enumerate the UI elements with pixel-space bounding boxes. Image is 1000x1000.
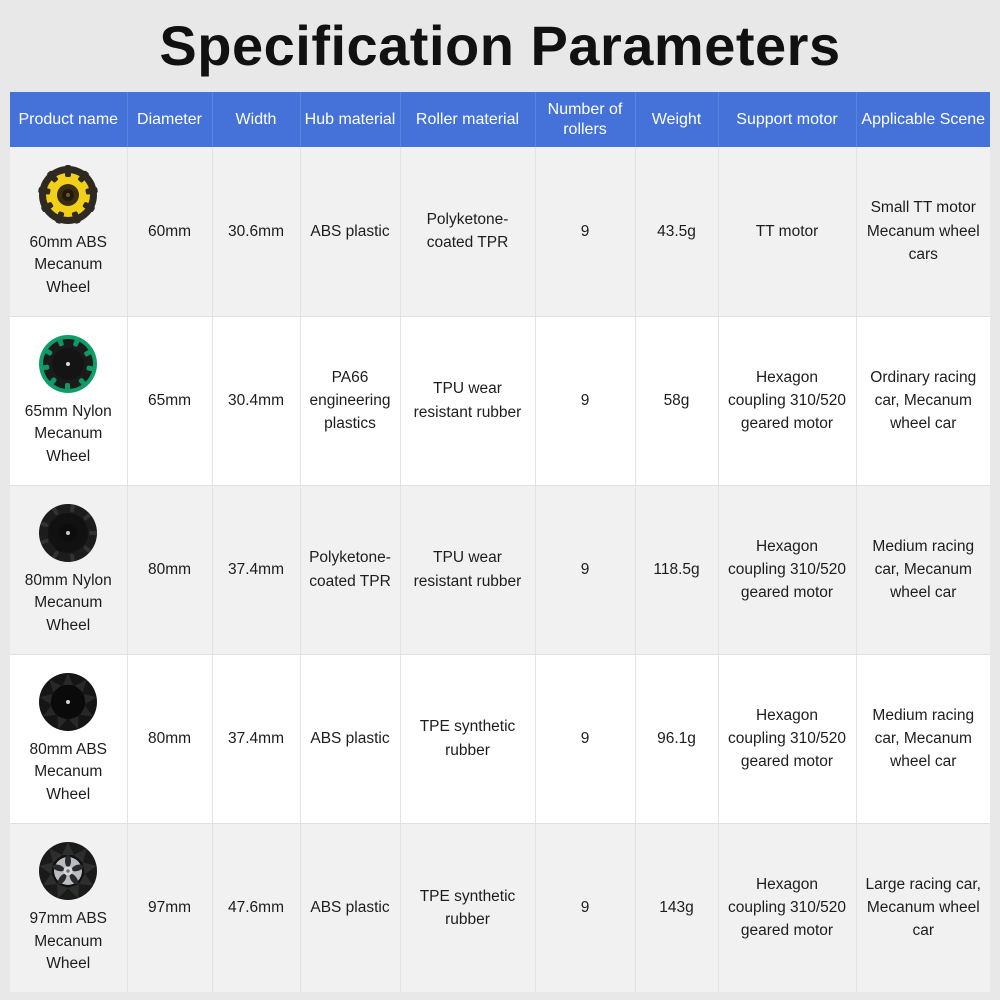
column-header-roller-material: Roller material xyxy=(400,92,535,147)
table-row: 60mm ABS Mecanum Wheel 60mm 30.6mm ABS p… xyxy=(10,147,990,316)
cell-roller-material: TPU wear resistant rubber xyxy=(400,485,535,654)
specification-table-container: Product name Diameter Width Hub material… xyxy=(10,92,990,992)
cell-number-of-rollers: 9 xyxy=(535,823,635,992)
product-cell: 65mm Nylon Mecanum Wheel xyxy=(17,333,120,468)
cell-product-name: 60mm ABS Mecanum Wheel xyxy=(10,147,127,316)
cell-number-of-rollers: 9 xyxy=(535,147,635,316)
cell-support-motor: Hexagon coupling 310/520 geared motor xyxy=(718,823,856,992)
table-row: 65mm Nylon Mecanum Wheel 65mm 30.4mm PA6… xyxy=(10,316,990,485)
cell-product-name: 80mm Nylon Mecanum Wheel xyxy=(10,485,127,654)
product-cell: 60mm ABS Mecanum Wheel xyxy=(17,164,120,299)
table-row: 97mm ABS Mecanum Wheel 97mm 47.6mm ABS p… xyxy=(10,823,990,992)
cell-support-motor: Hexagon coupling 310/520 geared motor xyxy=(718,485,856,654)
cell-roller-material: Polyketone-coated TPR xyxy=(400,147,535,316)
product-name-label: 65mm Nylon Mecanum Wheel xyxy=(17,401,120,468)
cell-width: 30.6mm xyxy=(212,147,300,316)
table-body: 60mm ABS Mecanum Wheel 60mm 30.6mm ABS p… xyxy=(10,147,990,992)
product-name-label: 97mm ABS Mecanum Wheel xyxy=(17,908,120,975)
cell-support-motor: Hexagon coupling 310/520 geared motor xyxy=(718,316,856,485)
cell-width: 37.4mm xyxy=(212,485,300,654)
cell-diameter: 65mm xyxy=(127,316,212,485)
cell-roller-material: TPE synthetic rubber xyxy=(400,823,535,992)
mecanum-wheel-green-icon xyxy=(37,333,99,395)
cell-product-name: 65mm Nylon Mecanum Wheel xyxy=(10,316,127,485)
mecanum-wheel-yellow-icon xyxy=(37,164,99,226)
cell-product-name: 97mm ABS Mecanum Wheel xyxy=(10,823,127,992)
cell-weight: 118.5g xyxy=(635,485,718,654)
cell-weight: 58g xyxy=(635,316,718,485)
cell-width: 37.4mm xyxy=(212,654,300,823)
column-header-diameter: Diameter xyxy=(127,92,212,147)
table-header: Product name Diameter Width Hub material… xyxy=(10,92,990,147)
cell-roller-material: TPE synthetic rubber xyxy=(400,654,535,823)
cell-hub-material: ABS plastic xyxy=(300,654,400,823)
cell-support-motor: TT motor xyxy=(718,147,856,316)
table-header-row: Product name Diameter Width Hub material… xyxy=(10,92,990,147)
cell-weight: 96.1g xyxy=(635,654,718,823)
product-name-label: 80mm Nylon Mecanum Wheel xyxy=(17,570,120,637)
cell-hub-material: ABS plastic xyxy=(300,147,400,316)
cell-applicable-scene: Medium racing car, Mecanum wheel car xyxy=(856,485,990,654)
cell-number-of-rollers: 9 xyxy=(535,485,635,654)
cell-hub-material: ABS plastic xyxy=(300,823,400,992)
cell-diameter: 60mm xyxy=(127,147,212,316)
column-header-width: Width xyxy=(212,92,300,147)
mecanum-wheel-black-icon xyxy=(37,502,99,564)
mecanum-wheel-silver-hub-icon xyxy=(37,840,99,902)
cell-applicable-scene: Medium racing car, Mecanum wheel car xyxy=(856,654,990,823)
cell-weight: 143g xyxy=(635,823,718,992)
cell-diameter: 80mm xyxy=(127,485,212,654)
page-title: Specification Parameters xyxy=(159,18,840,74)
product-cell: 80mm ABS Mecanum Wheel xyxy=(17,671,120,806)
cell-applicable-scene: Ordinary racing car, Mecanum wheel car xyxy=(856,316,990,485)
cell-diameter: 97mm xyxy=(127,823,212,992)
mecanum-wheel-black-star-icon xyxy=(37,671,99,733)
cell-applicable-scene: Large racing car, Mecanum wheel car xyxy=(856,823,990,992)
cell-diameter: 80mm xyxy=(127,654,212,823)
cell-weight: 43.5g xyxy=(635,147,718,316)
specification-table: Product name Diameter Width Hub material… xyxy=(10,92,990,992)
column-header-product-name: Product name xyxy=(10,92,127,147)
table-row: 80mm Nylon Mecanum Wheel 80mm 37.4mm Pol… xyxy=(10,485,990,654)
specification-page: Specification Parameters Product name Di… xyxy=(0,0,1000,1000)
cell-product-name: 80mm ABS Mecanum Wheel xyxy=(10,654,127,823)
cell-number-of-rollers: 9 xyxy=(535,654,635,823)
cell-hub-material: PA66 engineering plastics xyxy=(300,316,400,485)
cell-width: 30.4mm xyxy=(212,316,300,485)
cell-hub-material: Polyketone-coated TPR xyxy=(300,485,400,654)
cell-support-motor: Hexagon coupling 310/520 geared motor xyxy=(718,654,856,823)
cell-applicable-scene: Small TT motor Mecanum wheel cars xyxy=(856,147,990,316)
cell-width: 47.6mm xyxy=(212,823,300,992)
cell-roller-material: TPU wear resistant rubber xyxy=(400,316,535,485)
table-row: 80mm ABS Mecanum Wheel 80mm 37.4mm ABS p… xyxy=(10,654,990,823)
column-header-weight: Weight xyxy=(635,92,718,147)
product-name-label: 80mm ABS Mecanum Wheel xyxy=(17,739,120,806)
column-header-number-of-rollers: Number of rollers xyxy=(535,92,635,147)
column-header-applicable-scene: Applicable Scene xyxy=(856,92,990,147)
page-title-container: Specification Parameters xyxy=(0,0,1000,92)
column-header-hub-material: Hub material xyxy=(300,92,400,147)
cell-number-of-rollers: 9 xyxy=(535,316,635,485)
product-cell: 80mm Nylon Mecanum Wheel xyxy=(17,502,120,637)
product-cell: 97mm ABS Mecanum Wheel xyxy=(17,840,120,975)
column-header-support-motor: Support motor xyxy=(718,92,856,147)
product-name-label: 60mm ABS Mecanum Wheel xyxy=(17,232,120,299)
